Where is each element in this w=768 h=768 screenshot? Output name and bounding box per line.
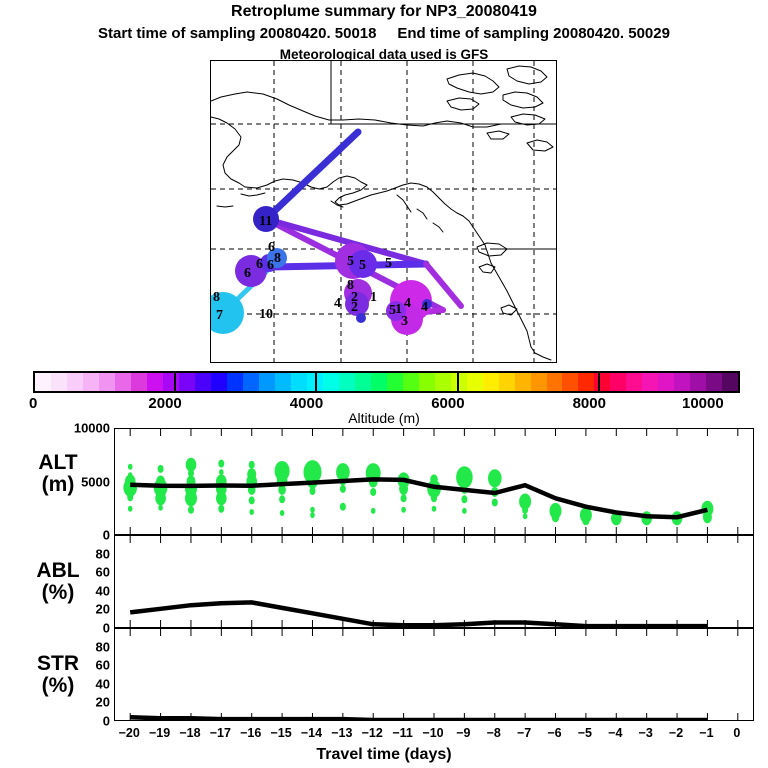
travel-time-tick-label: −5	[578, 726, 592, 740]
colorbar-swatch	[83, 373, 99, 391]
alt-scatter-bubble	[155, 491, 166, 505]
colorbar-divider	[457, 371, 459, 393]
svg-text:6: 6	[267, 258, 274, 273]
colorbar-swatch	[658, 373, 674, 391]
alt-scatter-bubble	[249, 461, 255, 469]
colorbar-swatch	[483, 373, 499, 391]
travel-time-tick-label: −16	[240, 726, 261, 740]
colorbar-swatch	[562, 373, 578, 391]
travel-time-tick-label: −14	[301, 726, 322, 740]
alt-scatter-bubble	[488, 469, 502, 487]
svg-text:5: 5	[385, 256, 392, 271]
svg-text:5: 5	[359, 258, 366, 273]
colorbar-swatch	[275, 373, 291, 391]
colorbar-swatch	[131, 373, 147, 391]
alt-scatter-bubble	[552, 512, 560, 522]
travel-time-tick-label: −13	[331, 726, 352, 740]
travel-time-tick-label: −2	[669, 726, 683, 740]
svg-text:10: 10	[259, 307, 273, 322]
alt-scatter-bubble	[523, 513, 528, 519]
alt-scatter-bubble	[582, 515, 590, 525]
svg-text:11: 11	[259, 214, 272, 229]
alt-scatter-bubble	[703, 511, 712, 523]
alt-scatter-bubble	[127, 493, 133, 501]
alt-scatter-bubble	[185, 490, 197, 506]
travel-time-tick-label: −8	[487, 726, 501, 740]
alt-scatter-bubble	[216, 491, 227, 505]
colorbar-axis-label: Altitude (m)	[0, 410, 768, 426]
alt-scatter-bubble	[431, 494, 437, 502]
svg-text:4: 4	[421, 300, 428, 315]
colorbar-swatch	[610, 373, 626, 391]
colorbar-gradient	[33, 371, 740, 393]
colorbar-swatch	[339, 373, 355, 391]
y-tick-label: 80	[50, 639, 110, 654]
y-tick-label: 40	[50, 583, 110, 598]
travel-time-tick-label: −9	[456, 726, 470, 740]
colorbar-swatch	[355, 373, 371, 391]
abl-ytick-labels: 020406080	[46, 535, 110, 628]
alt-plot-panel[interactable]	[114, 428, 754, 535]
colorbar-swatch	[243, 373, 259, 391]
alt-scatter-bubble	[340, 503, 346, 511]
abl-plot-svg	[115, 536, 753, 627]
abl-line	[130, 602, 707, 626]
colorbar-swatch	[259, 373, 275, 391]
colorbar-swatch	[722, 373, 738, 391]
retroplume-map[interactable]: 11 7 6 6 6 8 8 6 10 5 5 5 8 2 2 1 4 3 5 …	[210, 60, 557, 363]
colorbar-swatch	[690, 373, 706, 391]
colorbar-swatch	[515, 373, 531, 391]
svg-text:6: 6	[268, 240, 275, 255]
colorbar-swatch	[147, 373, 163, 391]
map-region-borders	[331, 61, 556, 249]
colorbar-swatch	[291, 373, 307, 391]
alt-scatter-bubble	[280, 510, 285, 516]
colorbar-swatch	[499, 373, 515, 391]
y-tick-label: 10000	[50, 421, 110, 436]
svg-text:8: 8	[274, 251, 281, 266]
svg-text:1: 1	[370, 290, 377, 305]
travel-time-tick-label: −20	[119, 726, 140, 740]
alt-scatter-bubble	[310, 512, 315, 518]
colorbar-swatch	[642, 373, 658, 391]
y-tick-label: 5000	[50, 474, 110, 489]
alt-scatter-bubble	[613, 517, 619, 525]
travel-time-tick-label: −1	[699, 726, 713, 740]
sampling-times: Start time of sampling 20080420. 50018 E…	[0, 25, 768, 42]
alt-ytick-labels: 0500010000	[46, 428, 110, 535]
y-tick-label: 0	[50, 714, 110, 729]
alt-scatter-bubble	[310, 487, 316, 495]
travel-time-tick-label: −19	[149, 726, 170, 740]
travel-time-tick-label: −6	[547, 726, 561, 740]
alt-scatter-bubble	[340, 485, 346, 493]
str-ytick-labels: 020406080	[46, 628, 110, 721]
colorbar-swatch	[403, 373, 419, 391]
colorbar-swatch	[211, 373, 227, 391]
alt-scatter-bubble	[218, 460, 224, 468]
svg-text:2: 2	[351, 300, 358, 315]
alt-scatter-bubble	[456, 466, 473, 488]
colorbar-swatch	[435, 373, 451, 391]
svg-text:6: 6	[256, 257, 263, 272]
colorbar-swatch	[371, 373, 387, 391]
colorbar-swatch	[674, 373, 690, 391]
colorbar-swatch	[578, 373, 594, 391]
alt-scatter-bubble	[399, 483, 408, 495]
alt-scatter-bubble	[310, 507, 315, 513]
y-tick-label: 60	[50, 565, 110, 580]
travel-time-tick-label: −18	[179, 726, 200, 740]
alt-scatter-bubble	[249, 496, 255, 504]
alt-scatter-bubble	[370, 488, 376, 496]
alt-scatter-bubble	[158, 505, 163, 511]
alt-scatter-bubble	[401, 494, 407, 502]
alt-scatter-bubble	[279, 495, 285, 503]
alt-plot-svg	[115, 429, 753, 534]
travel-time-tick-label: −10	[422, 726, 443, 740]
alt-scatter-bubble	[371, 508, 376, 514]
alt-scatter-bubble	[249, 509, 254, 515]
str-tick-marks	[130, 629, 738, 720]
alt-scatter-bubble	[522, 506, 528, 514]
alt-scatter-bubble	[462, 508, 467, 514]
svg-text:4: 4	[404, 296, 411, 311]
travel-time-tick-label: −7	[517, 726, 531, 740]
alt-scatter-bubble	[401, 507, 406, 513]
colorbar-swatch	[195, 373, 211, 391]
page-title: Retroplume summary for NP3_20080419	[0, 3, 768, 21]
colorbar-swatch	[115, 373, 131, 391]
alt-scatter-bubble	[218, 505, 224, 513]
str-line	[130, 717, 707, 720]
colorbar-swatch	[227, 373, 243, 391]
travel-time-tick-labels: −20−19−18−17−16−15−14−13−12−11−10−9−8−7−…	[114, 726, 754, 744]
abl-plot-panel[interactable]	[114, 535, 754, 628]
y-tick-label: 60	[50, 658, 110, 673]
svg-text:8: 8	[213, 290, 220, 305]
y-tick-label: 40	[50, 676, 110, 691]
colorbar-swatch	[547, 373, 563, 391]
abl-tick-marks	[130, 536, 738, 627]
colorbar-swatch	[51, 373, 67, 391]
travel-time-tick-label: −15	[270, 726, 291, 740]
map-svg: 11 7 6 6 6 8 8 6 10 5 5 5 8 2 2 1 4 3 5 …	[211, 61, 556, 362]
y-tick-label: 20	[50, 695, 110, 710]
colorbar-swatch	[179, 373, 195, 391]
alt-scatter-bubble	[188, 506, 194, 514]
svg-text:6: 6	[244, 266, 251, 281]
alt-scatter-bubble	[432, 506, 437, 512]
svg-text:4: 4	[334, 296, 341, 311]
travel-time-tick-label: −4	[608, 726, 622, 740]
alt-scatter-bubble	[492, 499, 498, 507]
colorbar-swatch	[323, 373, 339, 391]
alt-scatter-bubble	[219, 469, 224, 475]
colorbar-swatch	[67, 373, 83, 391]
colorbar-swatch	[35, 373, 51, 391]
travel-time-tick-label: −17	[210, 726, 231, 740]
alt-scatter-bubble	[644, 517, 650, 525]
svg-text:5: 5	[347, 254, 354, 269]
colorbar-swatch	[706, 373, 722, 391]
altitude-colorbar[interactable]	[33, 371, 740, 393]
colorbar-swatch	[99, 373, 115, 391]
y-tick-label: 80	[50, 546, 110, 561]
colorbar-divider	[598, 371, 600, 393]
colorbar-swatch	[387, 373, 403, 391]
travel-time-tick-label: 0	[733, 726, 740, 740]
travel-time-tick-label: −3	[639, 726, 653, 740]
svg-text:7: 7	[216, 308, 223, 323]
str-plot-panel[interactable]	[114, 628, 754, 721]
colorbar-divider	[315, 371, 317, 393]
colorbar-swatch	[594, 373, 610, 391]
travel-time-axis-label: Travel time (days)	[0, 746, 768, 764]
colorbar-swatch	[467, 373, 483, 391]
str-plot-svg	[115, 629, 753, 720]
alt-scatter-bubble	[128, 506, 133, 512]
colorbar-swatch	[163, 373, 179, 391]
alt-scatter-bubble	[461, 495, 467, 503]
alt-scatter-bubble	[158, 465, 164, 473]
y-tick-label: 20	[50, 602, 110, 617]
svg-text:3: 3	[401, 314, 408, 329]
colorbar-swatch	[419, 373, 435, 391]
colorbar-divider	[174, 371, 176, 393]
travel-time-tick-label: −12	[362, 726, 383, 740]
travel-time-tick-label: −11	[392, 726, 413, 740]
alt-scatter-bubble	[128, 464, 133, 470]
svg-text:1: 1	[395, 302, 402, 317]
colorbar-swatch	[531, 373, 547, 391]
colorbar-swatch	[626, 373, 642, 391]
